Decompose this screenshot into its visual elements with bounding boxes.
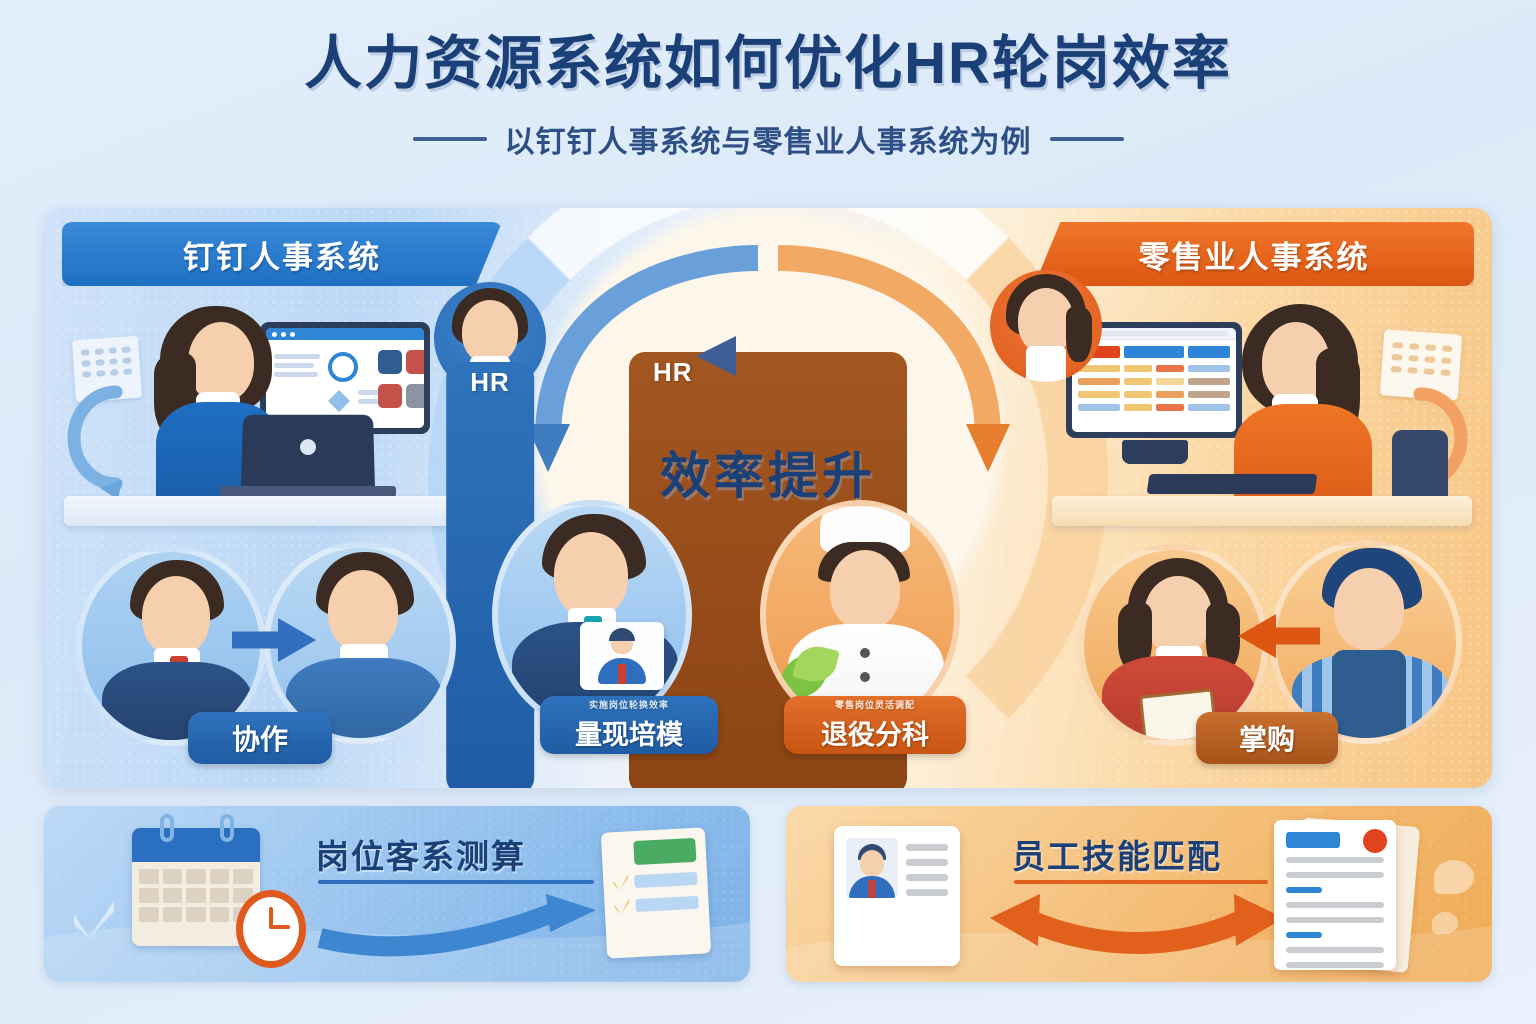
employee-card-icon (580, 622, 664, 690)
document-icon (1274, 820, 1396, 970)
laptop-icon (241, 415, 375, 491)
banner-right-label: 零售业人事系统 (1139, 232, 1370, 277)
bottom-panel-skill-matching: 员工技能匹配 (786, 806, 1492, 982)
office-chair-icon (1392, 430, 1448, 506)
avatar-hr-orange (990, 270, 1102, 382)
pill-collaboration-text: 协作 (232, 718, 288, 758)
pill-label-store-ops: 掌购 (1196, 712, 1338, 764)
transfer-arrow-icon (1234, 610, 1326, 662)
banner-retail-hr-system: 零售业人事系统 (1034, 222, 1474, 286)
swap-arrow-icon (226, 614, 318, 666)
speech-bubble-decoration-small (1432, 912, 1458, 934)
bottom-panel-position-analysis: 岗位客系测算 (44, 806, 750, 982)
subtitle-row: 以钉钉人事系统与零售业人事系统为例 (0, 117, 1536, 161)
exchange-arrow-icon (688, 334, 848, 378)
calendar-ring-right (220, 814, 234, 842)
illustration-job-rotation-pair: 协作 (66, 536, 466, 776)
illustration-retail-hr-desk (1052, 288, 1472, 538)
pill-center-blue-subtext: 实施岗位轮换效率 (589, 698, 669, 711)
illustration-hr-officer-desk (64, 288, 484, 538)
pill-label-center-orange: 零售岗位灵活调配 退役分科 (784, 696, 966, 754)
bottom-right-rule (1014, 880, 1268, 884)
speech-bubble-decoration (1434, 860, 1474, 894)
calendar-ring-left (160, 814, 174, 842)
bottom-left-title: 岗位客系测算 (316, 830, 526, 878)
infographic-root: 人力资源系统如何优化HR轮岗效率 以钉钉人事系统与零售业人事系统为例 钉钉人事系… (0, 0, 1536, 1024)
refresh-arrow-icon (60, 384, 130, 494)
arrow-bidirectional-icon (982, 892, 1290, 956)
main-comparison-panel: 钉钉人事系统 零售业人事系统 (44, 208, 1492, 788)
banner-dingtalk-hr-system: 钉钉人事系统 (62, 222, 502, 286)
pill-center-orange-subtext: 零售岗位灵活调配 (835, 698, 915, 711)
pill-center-blue-text: 量现培模 (575, 713, 683, 752)
divider-left (413, 137, 487, 141)
pill-label-center-blue: 实施岗位轮换效率 量现培模 (540, 696, 718, 754)
keyboard-icon (1147, 474, 1318, 494)
illustration-employee-profile: 实施岗位轮换效率 量现培模 (482, 500, 712, 770)
pill-label-collaboration: 协作 (188, 712, 332, 764)
divider-right (1050, 137, 1124, 141)
bottom-left-rule (318, 880, 594, 884)
checklist-icon (601, 827, 711, 958)
header: 人力资源系统如何优化HR轮岗效率 以钉钉人事系统与零售业人事系统为例 (0, 34, 1536, 161)
center-efficiency-label: 效率提升 (660, 436, 876, 508)
pill-store-ops-text: 掌购 (1239, 718, 1295, 758)
page-subtitle: 以钉钉人事系统与零售业人事系统为例 (505, 117, 1032, 161)
banner-left-label: 钉钉人事系统 (183, 232, 381, 277)
pill-center-orange-text: 退役分科 (821, 713, 929, 752)
arrow-right-icon (310, 894, 610, 962)
illustration-retail-chef: 零售岗位灵活调配 退役分科 (744, 500, 974, 770)
illustration-retail-pair: 掌购 (1070, 536, 1470, 776)
page-title: 人力资源系统如何优化HR轮岗效率 (0, 34, 1536, 95)
bottom-right-title: 员工技能匹配 (1012, 830, 1222, 878)
clock-icon (236, 890, 306, 968)
id-card-icon (834, 826, 960, 966)
